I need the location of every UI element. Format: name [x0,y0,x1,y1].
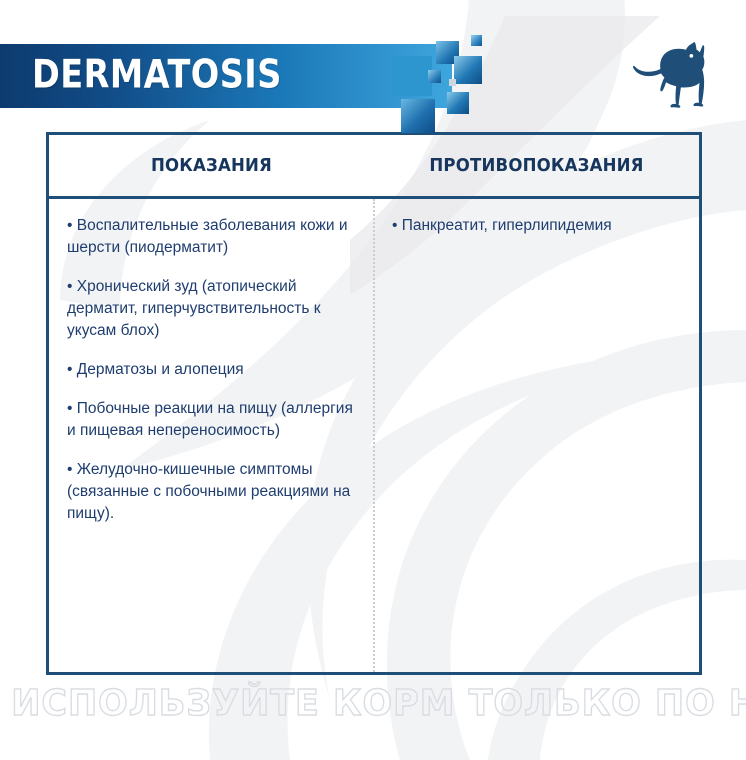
decorative-square [392,56,432,96]
decorative-squares-cluster [392,26,492,122]
list-item: • Воспалительные заболевания кожи и шерс… [67,215,356,259]
table-header-row: ПОКАЗАНИЯ ПРОТИВОПОКАЗАНИЯ [49,135,699,199]
slide-root: DERMATOSIS ПОКАЗАНИЯ ПРОТИВОПОКАЗАНИЯ • … [0,0,746,760]
decorative-square [454,56,482,84]
decorative-square [428,70,441,83]
list-item: • Панкреатит, гиперлипидемия [392,215,681,237]
decorative-square [471,35,482,46]
list-item: • Побочные реакции на пищу (аллергия и п… [67,398,356,442]
decorative-square [401,99,435,133]
header-banner: DERMATOSIS [0,44,452,108]
column-header-indications: ПОКАЗАНИЯ [62,135,361,196]
list-item: • Хронический зуд (атопический дерматит,… [67,276,356,342]
column-indications: • Воспалительные заболевания кожи и шерс… [49,199,374,672]
indications-table: ПОКАЗАНИЯ ПРОТИВОПОКАЗАНИЯ • Воспалитель… [46,132,702,675]
banner-title: DERMATOSIS [32,56,282,95]
decorative-square [449,79,456,86]
decorative-square [447,92,469,114]
footer-disclaimer: ИСПОЛЬЗУЙТЕ КОРМ ТОЛЬКО ПО НАЗНАЧЕНИЮ ВР… [11,686,735,722]
list-item: • Желудочно-кишечные симптомы (связанные… [67,459,356,525]
list-item: • Дерматозы и алопеция [67,359,356,381]
cat-silhouette-icon [628,36,714,112]
column-contraindications: • Панкреатит, гиперлипидемия [374,199,699,672]
table-body: • Воспалительные заболевания кожи и шерс… [49,199,699,672]
column-divider [373,199,375,672]
column-header-contraindications: ПРОТИВОПОКАЗАНИЯ [387,135,686,196]
